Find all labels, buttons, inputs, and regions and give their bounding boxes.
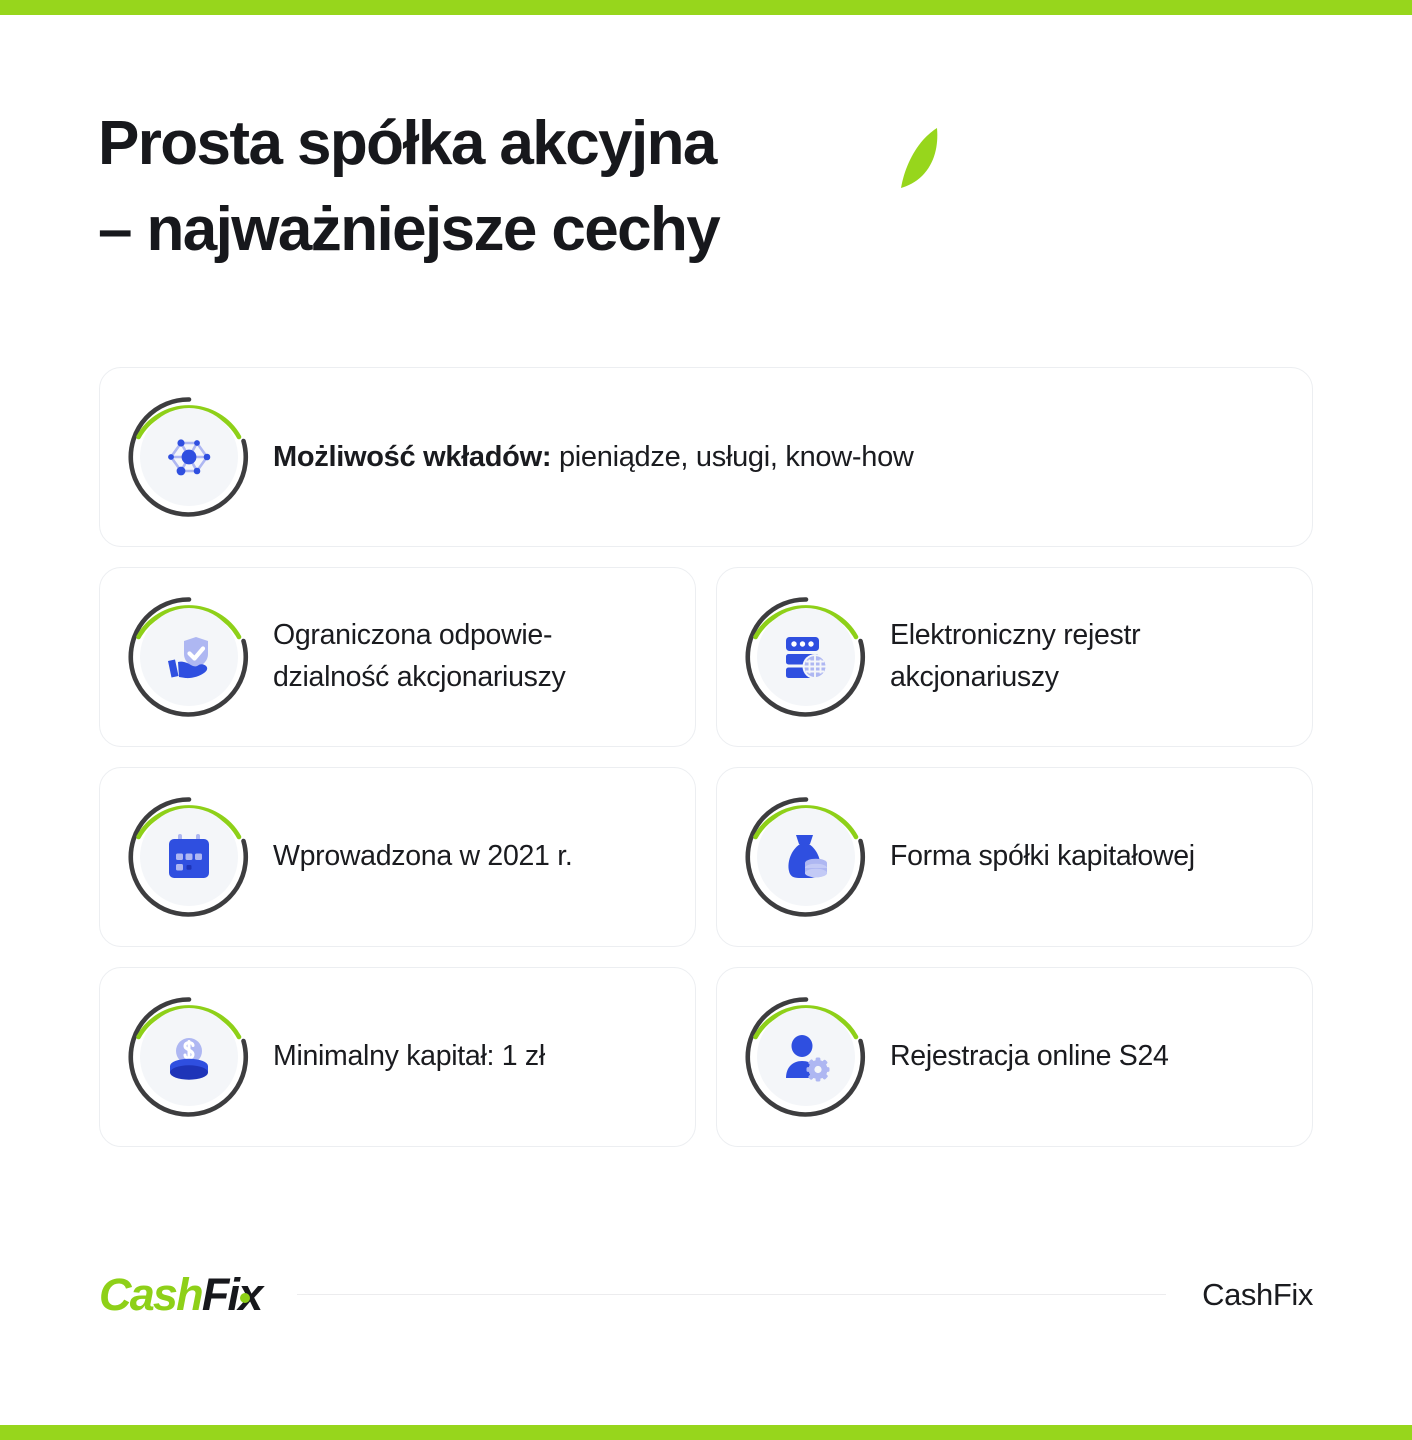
card-label-text: Rejestracja online S24 bbox=[890, 1040, 1169, 1072]
title-text-1: Prosta spółka akcyjna bbox=[98, 109, 716, 178]
icon-badge bbox=[744, 995, 868, 1119]
icon-badge bbox=[127, 995, 251, 1119]
card-label: Wprowadzona w 2021 r. bbox=[273, 836, 586, 878]
footer-brand-label: CashFix bbox=[1202, 1277, 1313, 1313]
icon-badge bbox=[127, 795, 251, 919]
user-gear-icon bbox=[780, 1031, 832, 1083]
footer-divider bbox=[297, 1294, 1166, 1295]
leaf-accent-icon bbox=[899, 127, 939, 189]
footer: CashFix CashFix bbox=[99, 1272, 1313, 1317]
icon-badge bbox=[744, 795, 868, 919]
money-bag-coins-icon bbox=[780, 831, 832, 883]
infographic-page: Prosta spółka akcyjna – najważniejsze ce… bbox=[0, 0, 1412, 1440]
card-row-3: Wprowadzona w 2021 r. bbox=[99, 767, 1313, 947]
card-label-text: Ograniczona odpowie-dzialność akcjonariu… bbox=[273, 619, 566, 693]
feature-card-introduced-2021[interactable]: Wprowadzona w 2021 r. bbox=[99, 767, 696, 947]
icon-inner-circle bbox=[757, 1008, 855, 1106]
top-accent-bar bbox=[0, 0, 1412, 15]
feature-card-online-registration[interactable]: Rejestracja online S24 bbox=[716, 967, 1313, 1147]
calendar-icon bbox=[163, 831, 215, 883]
icon-inner-circle bbox=[140, 408, 238, 506]
card-label-text: Wprowadzona w 2021 r. bbox=[273, 840, 572, 872]
icon-inner-circle bbox=[757, 808, 855, 906]
server-globe-icon bbox=[780, 631, 832, 683]
card-label: Elektroniczny rejestrakcjonariuszy bbox=[890, 615, 1154, 698]
dollar-coin-icon bbox=[163, 1031, 215, 1083]
logo-fix-text: Fix bbox=[202, 1269, 262, 1320]
bottom-accent-bar bbox=[0, 1425, 1412, 1440]
card-row-2: Ograniczona odpowie-dzialność akcjonariu… bbox=[99, 567, 1313, 747]
card-label: Forma spółki kapitałowej bbox=[890, 836, 1209, 878]
feature-card-limited-liability[interactable]: Ograniczona odpowie-dzialność akcjonariu… bbox=[99, 567, 696, 747]
cashfix-logo[interactable]: CashFix bbox=[99, 1272, 261, 1317]
card-label-text: Minimalny kapitał: 1 zł bbox=[273, 1040, 545, 1072]
icon-inner-circle bbox=[757, 608, 855, 706]
icon-inner-circle bbox=[140, 808, 238, 906]
card-row-1: Możliwość wkładów: pieniądze, usługi, kn… bbox=[99, 367, 1313, 547]
card-label-text: Forma spółki kapitałowej bbox=[890, 840, 1195, 872]
title-text-2: – najważniejsze cechy bbox=[98, 195, 719, 264]
logo-cash-text: Cash bbox=[99, 1269, 202, 1320]
network-nodes-icon bbox=[163, 431, 215, 483]
card-row-4: Minimalny kapitał: 1 zł bbox=[99, 967, 1313, 1147]
feature-card-minimum-capital[interactable]: Minimalny kapitał: 1 zł bbox=[99, 967, 696, 1147]
title-line-2: – najważniejsze cechy bbox=[98, 198, 1198, 261]
icon-inner-circle bbox=[140, 608, 238, 706]
feature-card-electronic-register[interactable]: Elektroniczny rejestrakcjonariuszy bbox=[716, 567, 1313, 747]
title-line-1: Prosta spółka akcyjna bbox=[98, 112, 1198, 175]
page-title: Prosta spółka akcyjna – najważniejsze ce… bbox=[98, 112, 1198, 261]
icon-badge bbox=[744, 595, 868, 719]
feature-card-grid: Możliwość wkładów: pieniądze, usługi, kn… bbox=[99, 367, 1313, 1167]
card-label: Rejestracja online S24 bbox=[890, 1036, 1183, 1078]
icon-badge bbox=[127, 395, 251, 519]
card-label: Minimalny kapitał: 1 zł bbox=[273, 1036, 559, 1078]
card-label: Ograniczona odpowie-dzialność akcjonariu… bbox=[273, 615, 580, 698]
icon-badge bbox=[127, 595, 251, 719]
card-label-rest: pieniądze, usługi, know-how bbox=[551, 441, 913, 473]
card-label-lead: Możliwość wkładów: bbox=[273, 441, 551, 473]
card-label-text: Elektroniczny rejestrakcjonariuszy bbox=[890, 619, 1140, 693]
feature-card-capital-company[interactable]: Forma spółki kapitałowej bbox=[716, 767, 1313, 947]
card-label: Możliwość wkładów: pieniądze, usługi, kn… bbox=[273, 436, 928, 478]
icon-inner-circle bbox=[140, 1008, 238, 1106]
hand-shield-check-icon bbox=[163, 631, 215, 683]
feature-card-contributions[interactable]: Możliwość wkładów: pieniądze, usługi, kn… bbox=[99, 367, 1313, 547]
